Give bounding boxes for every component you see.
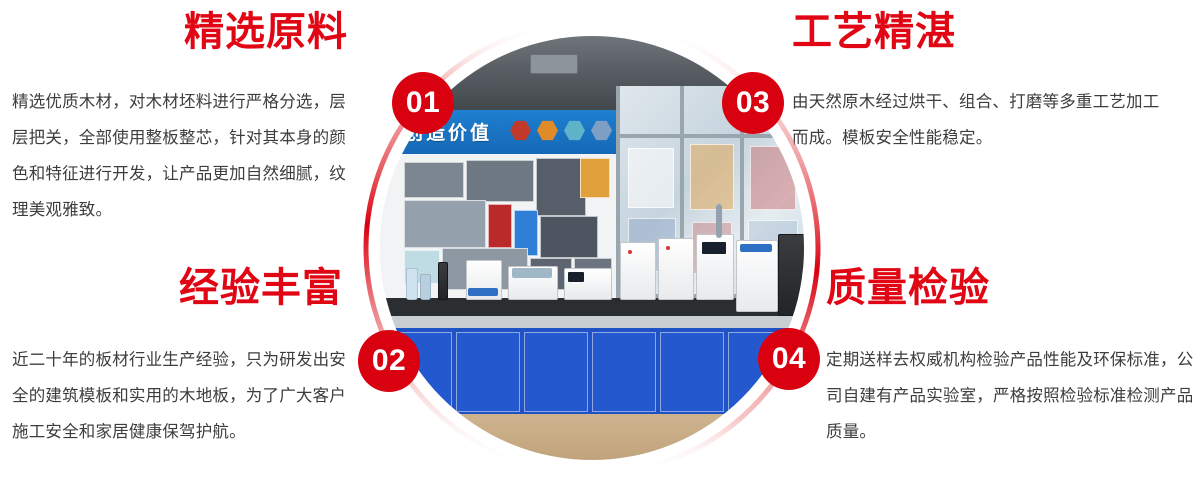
feature-body-text-04: 定期送样去权威机构检验产品性能及环保标准，公司自建有产品实验室，严格按照检验标准…	[826, 342, 1194, 450]
feature-block-01: 精选原料 精选优质木材，对木材坯料进行严格分选，层层把关，全部使用整板整芯，针对…	[0, 12, 348, 228]
lab-stand	[438, 262, 448, 300]
wall-label-tile	[488, 204, 512, 248]
feature-block-04: 质量检验 定期送样去权威机构检验产品性能及环保标准，公司自建有产品实验室，严格按…	[826, 268, 1200, 450]
feature-block-02: 经验丰富 近二十年的板材行业生产经验，只为研发出安全的建筑模板和实用的木地板，为…	[0, 268, 348, 450]
feature-body-03: 由天然原木经过烘干、组合、打磨等多重工艺加工而成。模板安全性能稳定。	[792, 84, 1174, 156]
photo-floor	[380, 414, 804, 460]
hex-badge-1	[510, 120, 531, 141]
wall-label-tile	[580, 158, 610, 198]
lab-indicator-led	[666, 246, 670, 250]
lab-bottle	[406, 268, 418, 300]
lab-gas-generator	[658, 238, 694, 300]
feature-title-04: 质量检验	[826, 268, 1200, 308]
photo-hex-badges	[510, 120, 612, 141]
wall-photo-tile	[466, 160, 534, 202]
cabinet-door	[592, 332, 656, 412]
glass-poster	[750, 146, 796, 210]
feature-title-02: 经验丰富	[0, 268, 348, 308]
infographic-canvas: 精选原料 精选优质木材，对木材坯料进行严格分选，层层把关，全部使用整板整芯，针对…	[0, 0, 1200, 495]
lab-bottle	[420, 274, 431, 300]
feature-title-03: 工艺精湛	[792, 12, 1200, 52]
step-badge-01[interactable]: 01	[392, 72, 454, 134]
wall-photo-tile	[540, 216, 598, 258]
hex-badge-4	[591, 120, 612, 141]
lab-oven	[778, 234, 804, 316]
glass-mullion	[616, 134, 804, 138]
lab-fume-arm	[716, 204, 722, 238]
cabinet-door	[660, 332, 724, 412]
lab-water-bath-lid	[512, 268, 552, 278]
photo-ceiling-vent	[530, 54, 578, 74]
lab-indicator-led	[628, 250, 632, 254]
lab-gas-generator	[620, 242, 656, 300]
glass-poster	[628, 148, 674, 208]
wall-photo-tile	[404, 200, 486, 248]
step-badge-03[interactable]: 03	[722, 72, 784, 134]
hex-badge-2	[537, 120, 558, 141]
feature-body-text-03: 由天然原木经过烘干、组合、打磨等多重工艺加工而成。模板安全性能稳定。	[792, 84, 1174, 156]
glass-poster	[690, 144, 734, 210]
feature-body-02: 近二十年的板材行业生产经验，只为研发出安全的建筑模板和实用的木地板，为了广大客户…	[0, 342, 348, 450]
step-badge-04[interactable]: 04	[758, 328, 820, 390]
hex-badge-3	[564, 120, 585, 141]
wall-photo-tile	[404, 162, 464, 198]
photo-bench-edge	[380, 316, 804, 328]
lab-spectrometer-screen	[568, 272, 584, 282]
lab-chamber-display	[740, 244, 772, 252]
feature-block-03: 工艺精湛 由天然原木经过烘干、组合、打磨等多重工艺加工而成。模板安全性能稳定。	[792, 12, 1200, 156]
feature-body-text-01: 精选优质木材，对木材坯料进行严格分选，层层把关，全部使用整板整芯，针对其本身的颜…	[12, 84, 348, 228]
step-badge-02[interactable]: 02	[358, 330, 420, 392]
feature-body-text-02: 近二十年的板材行业生产经验，只为研发出安全的建筑模板和实用的木地板，为了广大客户…	[12, 342, 348, 450]
feature-title-01: 精选原料	[0, 12, 348, 52]
lab-analyzer-screen	[702, 242, 726, 254]
wall-photo-tile	[536, 158, 586, 216]
feature-body-01: 精选优质木材，对木材坯料进行严格分选，层层把关，全部使用整板整芯，针对其本身的颜…	[0, 84, 348, 228]
cabinet-door	[456, 332, 520, 412]
feature-body-04: 定期送样去权威机构检验产品性能及环保标准，公司自建有产品实验室，严格按照检验标准…	[826, 342, 1194, 450]
lab-balance-display	[468, 288, 498, 296]
cabinet-door	[524, 332, 588, 412]
